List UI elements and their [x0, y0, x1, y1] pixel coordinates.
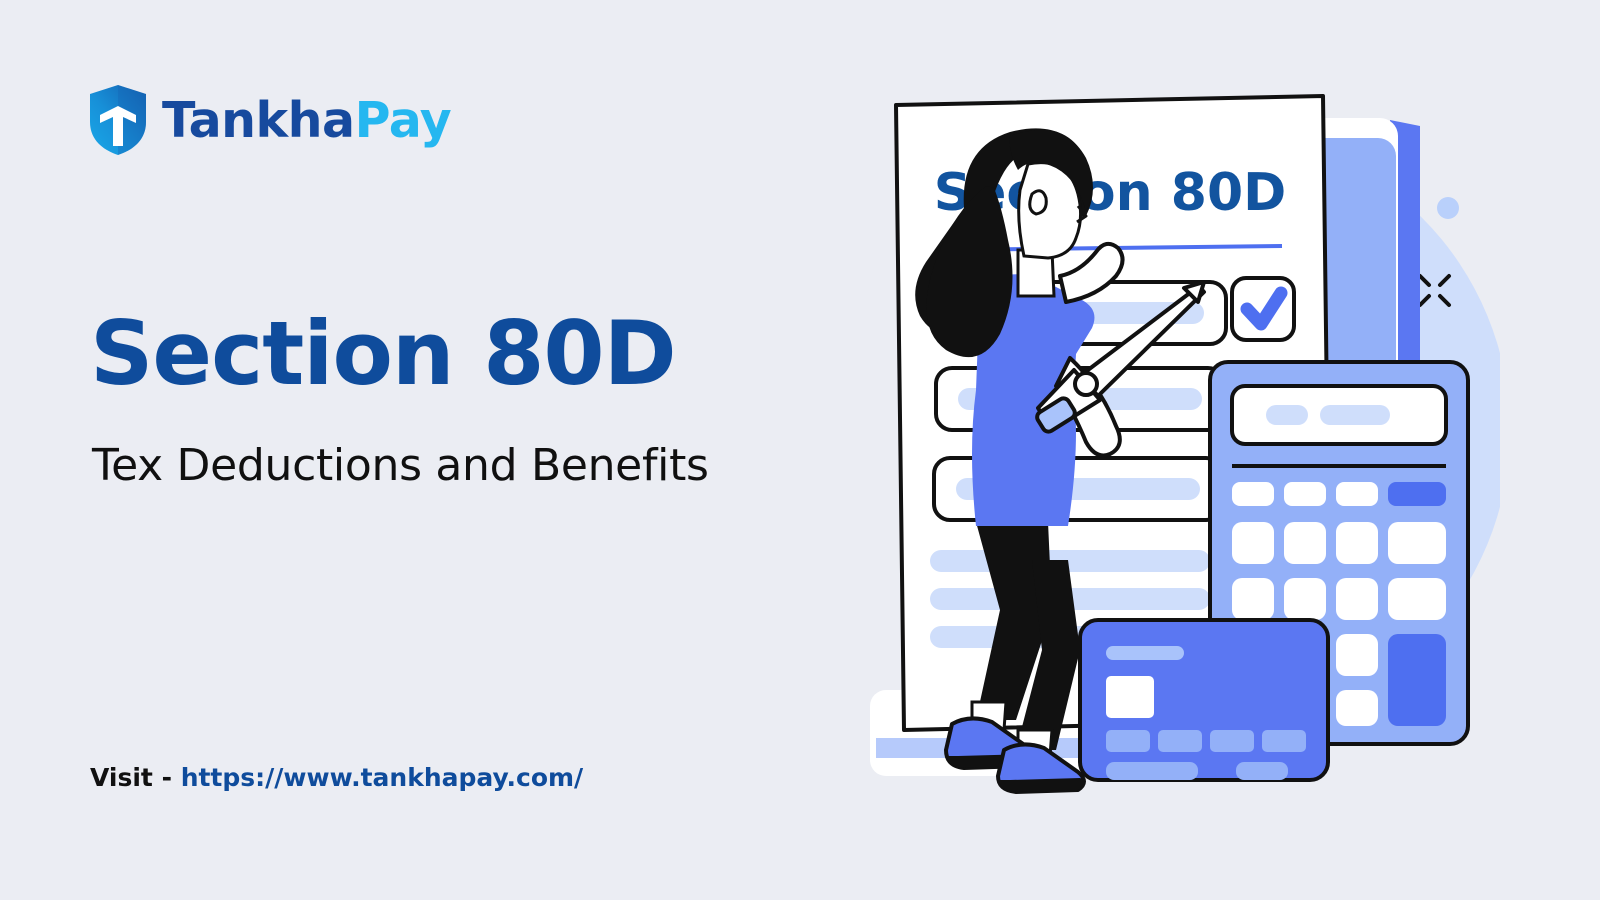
- page-subtitle: Tex Deductions and Benefits: [92, 440, 709, 493]
- hero-illustration: Section 80D: [780, 90, 1500, 810]
- shield-t-icon: [88, 84, 148, 156]
- website-url[interactable]: https://www.tankhapay.com/: [181, 763, 584, 792]
- brand-name-primary: Tankha: [162, 92, 355, 149]
- page-title: Section 80D: [90, 310, 676, 398]
- brand-name-secondary: Pay: [355, 92, 452, 149]
- checkbox-checked: [1232, 278, 1294, 340]
- visit-label: Visit -: [90, 763, 172, 792]
- decor-dot: [1437, 197, 1459, 219]
- text-line: [930, 550, 1210, 572]
- credit-card-icon: [1080, 620, 1328, 780]
- banner-canvas: TankhaPay Section 80D Tex Deductions and…: [0, 0, 1600, 900]
- brand-wordmark: TankhaPay: [162, 96, 451, 145]
- visit-line: Visit - https://www.tankhapay.com/: [90, 765, 583, 790]
- brand-logo[interactable]: TankhaPay: [88, 84, 451, 156]
